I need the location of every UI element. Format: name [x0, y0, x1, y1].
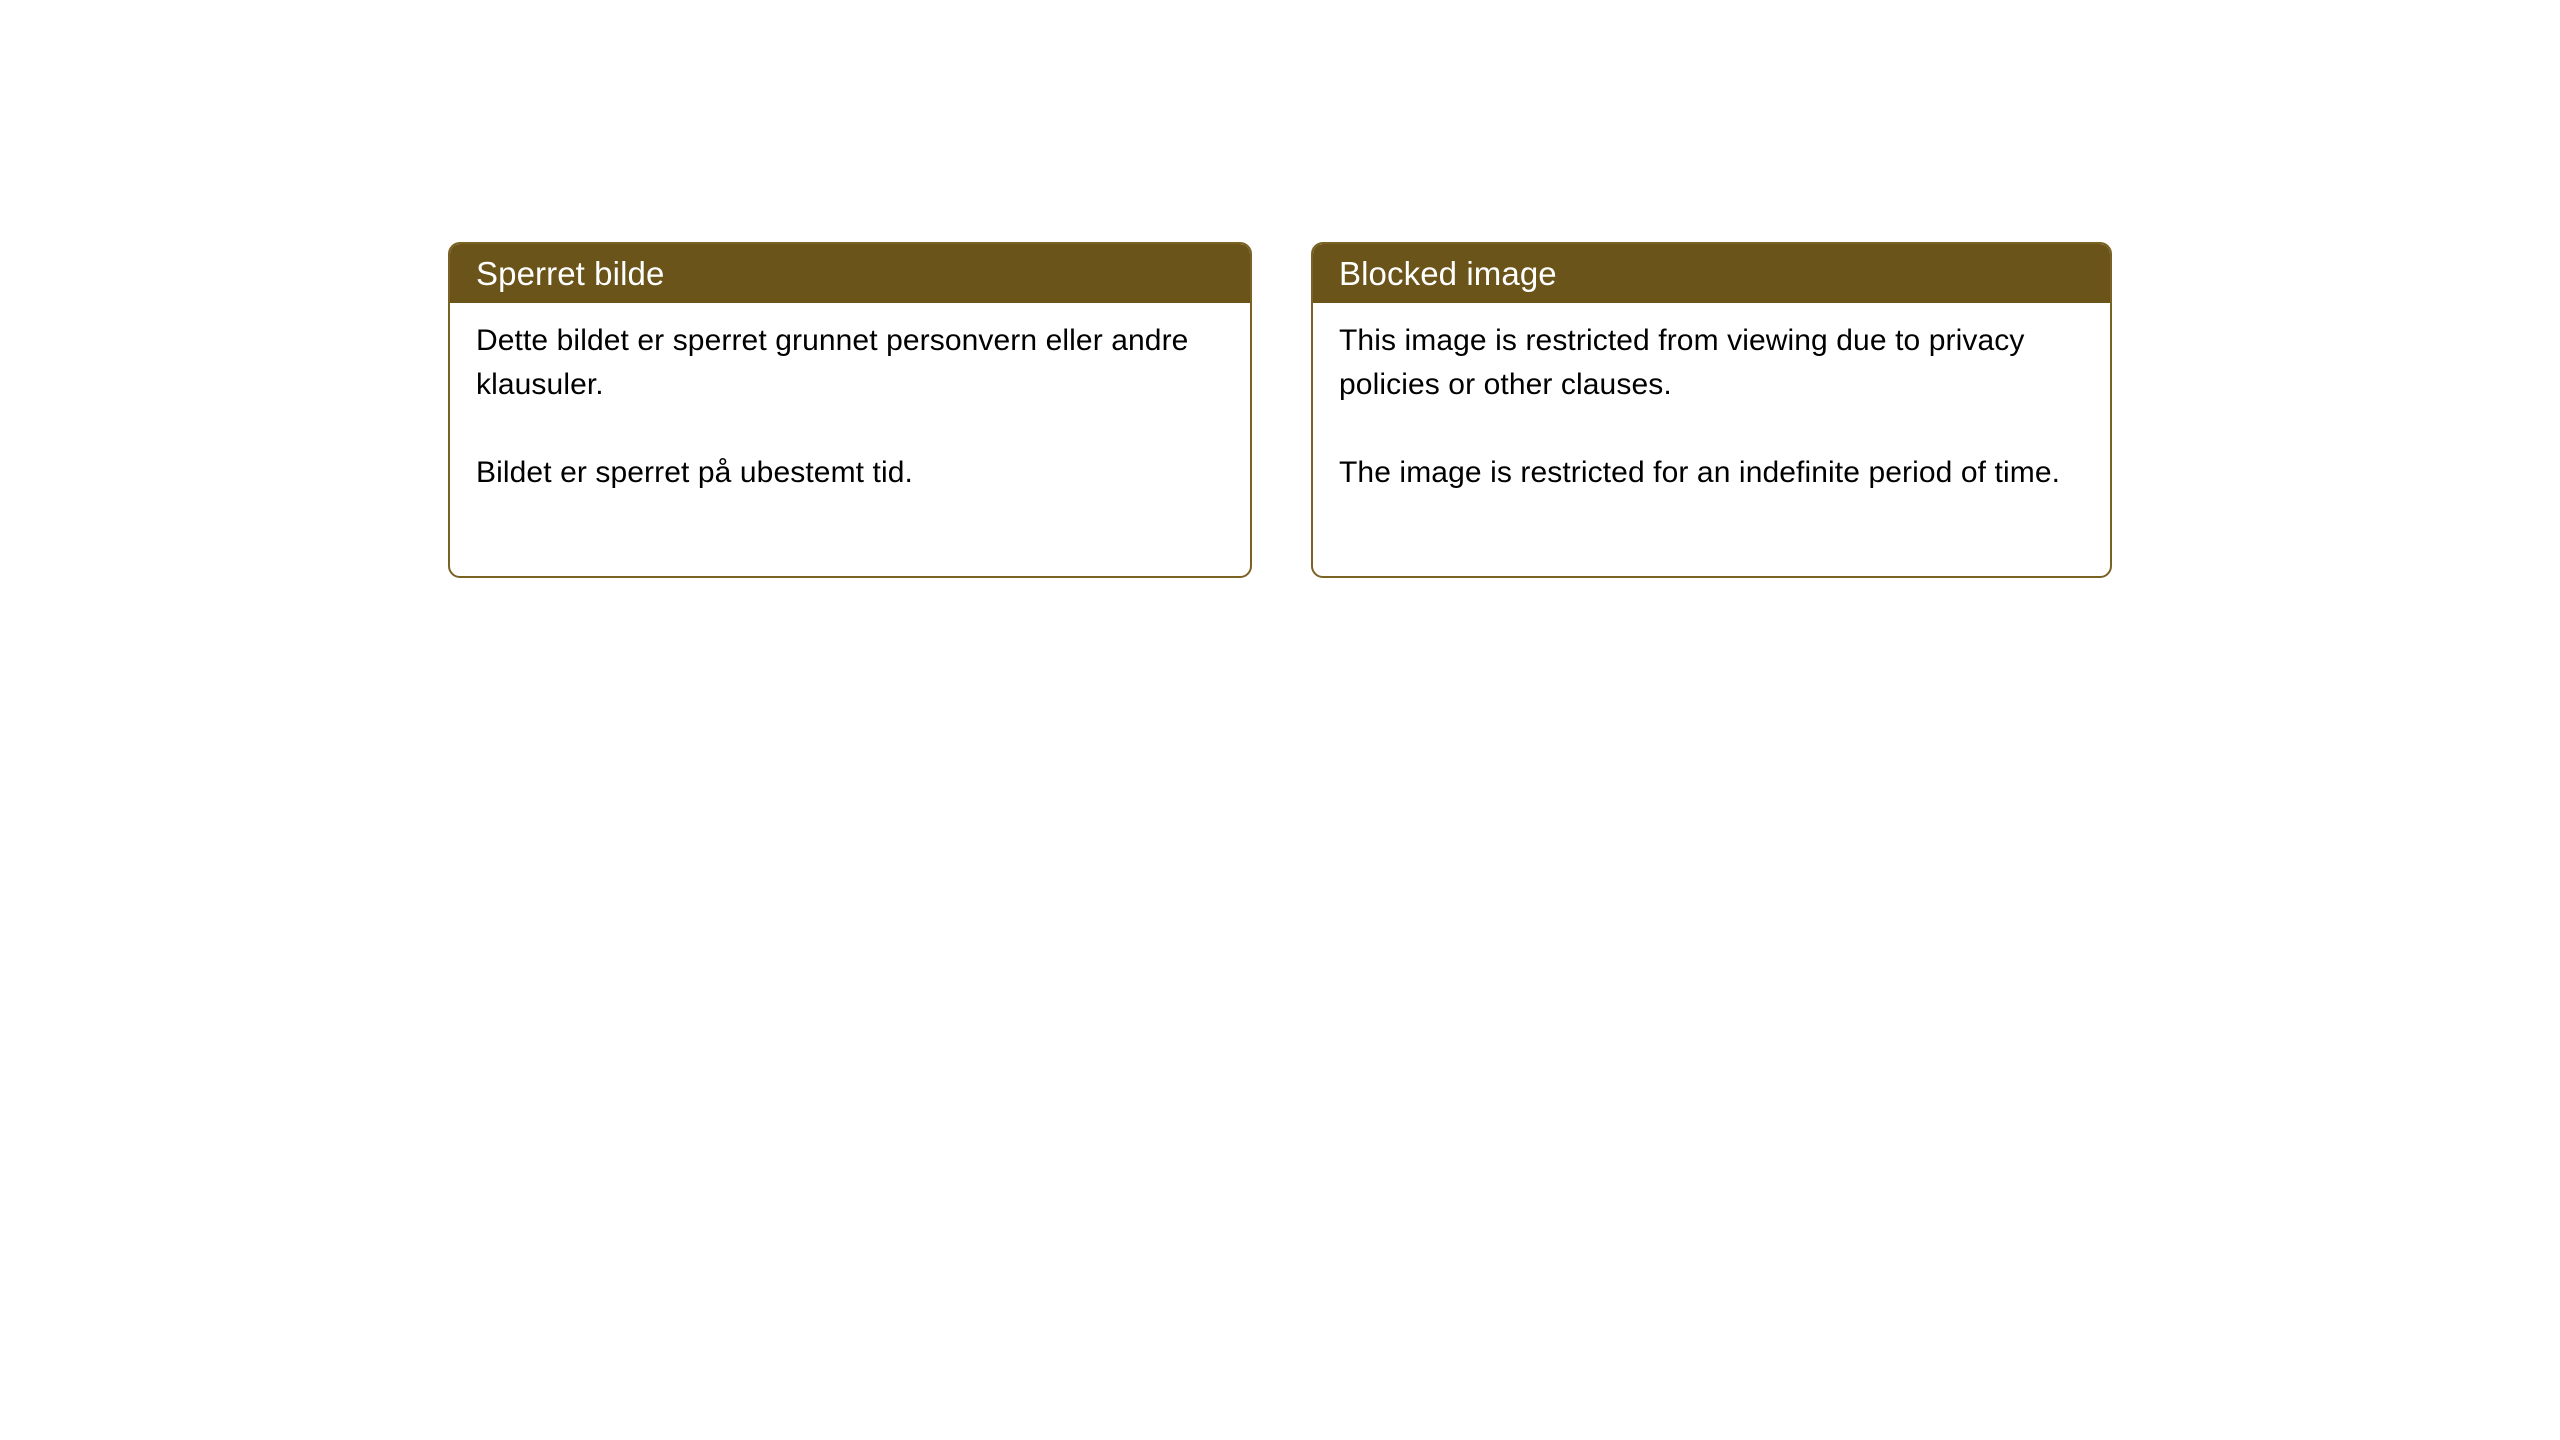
blocked-image-notice-card-english: Blocked image This image is restricted f… — [1311, 242, 2112, 578]
card-paragraph-duration-english: The image is restricted for an indefinit… — [1339, 451, 2084, 495]
card-body-english: This image is restricted from viewing du… — [1313, 303, 2110, 495]
card-header-english: Blocked image — [1313, 244, 2110, 303]
blocked-image-notice-card-norwegian: Sperret bilde Dette bildet er sperret gr… — [448, 242, 1252, 578]
card-paragraph-reason-norwegian: Dette bildet er sperret grunnet personve… — [476, 319, 1224, 407]
card-paragraph-duration-norwegian: Bildet er sperret på ubestemt tid. — [476, 451, 1224, 495]
page-canvas: Sperret bilde Dette bildet er sperret gr… — [0, 0, 2560, 1440]
card-body-norwegian: Dette bildet er sperret grunnet personve… — [450, 303, 1250, 495]
card-title-norwegian: Sperret bilde — [476, 255, 664, 293]
card-header-norwegian: Sperret bilde — [450, 244, 1250, 303]
card-paragraph-reason-english: This image is restricted from viewing du… — [1339, 319, 2084, 407]
card-title-english: Blocked image — [1339, 255, 1557, 293]
